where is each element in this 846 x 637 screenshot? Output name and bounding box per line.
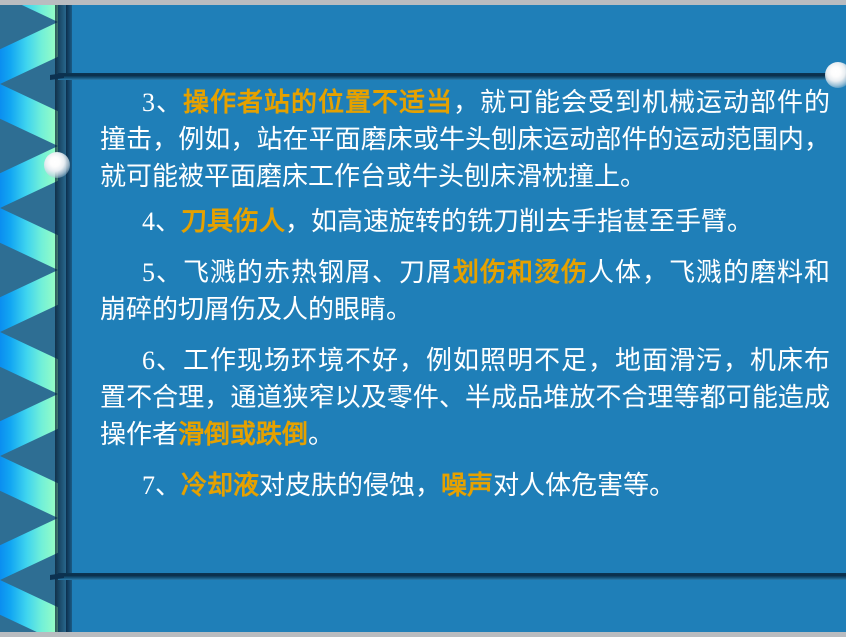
paragraph-6-number: 6、 — [142, 346, 183, 375]
slide-body-text: 3、操作者站的位置不适当，就可能会受到机械运动部件的撞击，例如，站在平面磨床或牛… — [72, 80, 846, 573]
strip-dark-edge — [66, 0, 72, 637]
paragraph-7: 7、冷却液对皮肤的侵蚀，噪声对人体危害等。 — [100, 467, 830, 504]
glow-dot-left — [44, 152, 70, 178]
paragraph-6: 6、工作现场环境不好，例如照明不足，地面滑污，机床布置不合理，通道狭窄以及零件、… — [100, 342, 830, 453]
left-decorative-strip — [0, 0, 72, 637]
paragraph-7-mid: 对皮肤的侵蚀， — [259, 471, 441, 500]
page-edge-bottom — [0, 632, 846, 637]
paragraph-4-number: 4、 — [142, 207, 181, 236]
page-edge-top — [0, 0, 846, 5]
zigzag-ribbon-graphic — [0, 0, 58, 637]
paragraph-7-number: 7、 — [142, 471, 181, 500]
paragraph-5-pre: 飞溅的赤热钢屑、刀屑 — [183, 258, 453, 287]
paragraph-4-highlight: 刀具伤人 — [181, 207, 285, 236]
paragraph-4-rest: ，如高速旋转的铣刀削去手指甚至手臂。 — [285, 207, 753, 236]
paragraph-3-highlight: 操作者站的位置不适当 — [183, 88, 453, 117]
paragraph-3-number: 3、 — [142, 88, 183, 117]
paragraph-3: 3、操作者站的位置不适当，就可能会受到机械运动部件的撞击，例如，站在平面磨床或牛… — [100, 84, 830, 195]
glow-dot-right — [825, 62, 846, 88]
divider-bottom — [58, 573, 846, 580]
presentation-slide: 3、操作者站的位置不适当，就可能会受到机械运动部件的撞击，例如，站在平面磨床或牛… — [0, 0, 846, 637]
paragraph-5-number: 5、 — [142, 258, 183, 287]
paragraph-7-rest: 对人体危害等。 — [493, 471, 675, 500]
paragraph-5-highlight: 划伤和烫伤 — [453, 258, 588, 287]
paragraph-6-highlight: 滑倒或跌倒 — [178, 420, 308, 449]
paragraph-5: 5、飞溅的赤热钢屑、刀屑划伤和烫伤人体，飞溅的磨料和崩碎的切屑伤及人的眼睛。 — [100, 254, 830, 328]
divider-top — [58, 73, 846, 80]
paragraph-7-highlight: 冷却液 — [181, 471, 259, 500]
paragraph-6-rest: 。 — [308, 420, 334, 449]
paragraph-4: 4、刀具伤人，如高速旋转的铣刀削去手指甚至手臂。 — [100, 203, 830, 240]
paragraph-7-highlight-2: 噪声 — [441, 471, 493, 500]
